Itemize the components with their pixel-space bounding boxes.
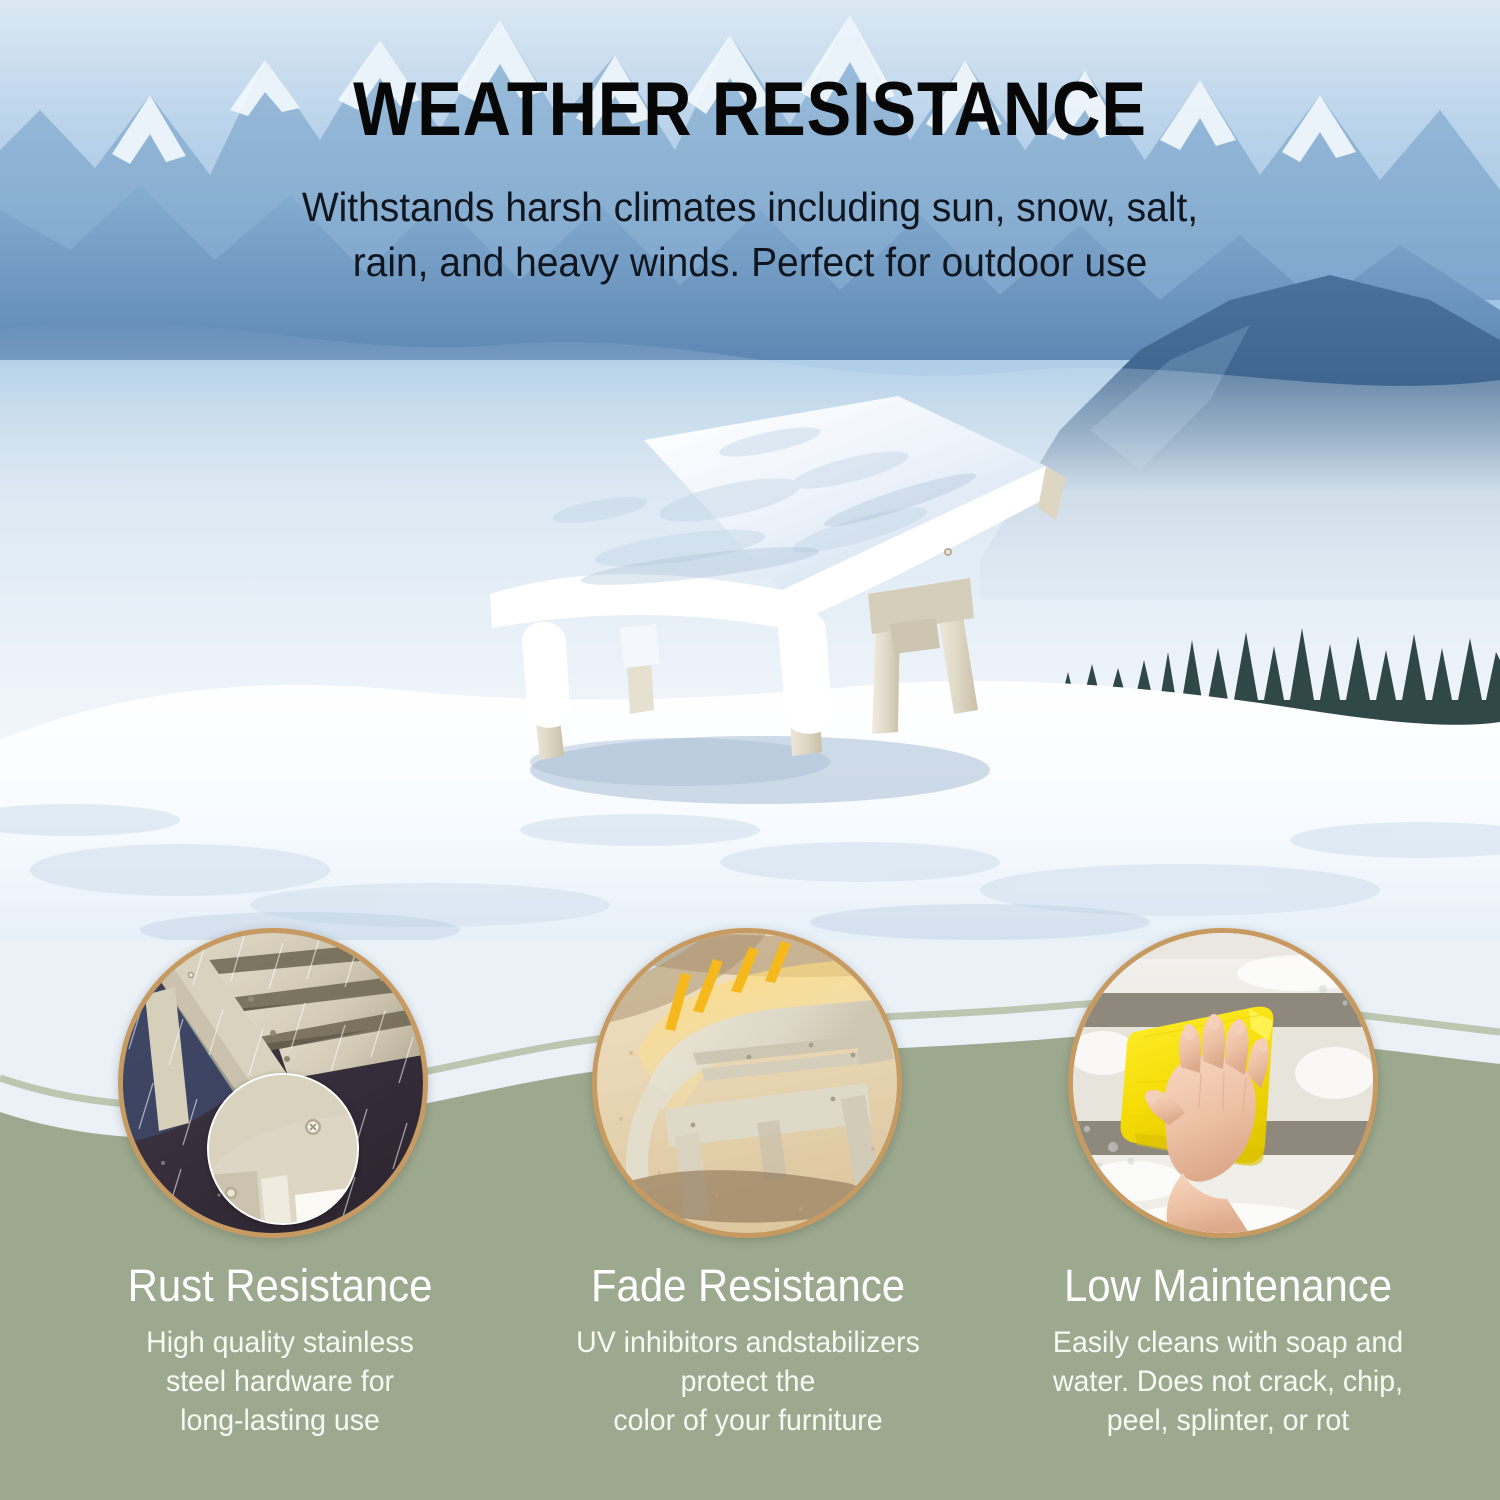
feature-desc-rust: High quality stainless steel hardware fo…: [71, 1323, 489, 1440]
feature-caption-fade: Fade Resistance UV inhibitors andstabili…: [528, 1262, 968, 1440]
feature-desc-fade-line-2: protect the: [539, 1362, 957, 1401]
feature-desc-rust-line-3: long-lasting use: [71, 1401, 489, 1440]
page-subtitle: Withstands harsh climates including sun,…: [247, 180, 1254, 291]
feature-desc-fade-line-3: color of your furniture: [539, 1401, 957, 1440]
beach-sun-rays-photo: [597, 933, 897, 1233]
snow-covered-ottoman-product: [430, 380, 1080, 810]
subtitle-line-1: Withstands harsh climates including sun,…: [247, 180, 1254, 235]
feature-caption-rust: Rust Resistance High quality stainless s…: [60, 1262, 500, 1440]
feature-desc-rust-line-2: steel hardware for: [71, 1362, 489, 1401]
marketing-infographic: WEATHER RESISTANCE Withstands harsh clim…: [0, 0, 1500, 1500]
feature-desc-fade-line-1: UV inhibitors andstabilizers: [539, 1323, 957, 1362]
feature-desc-rust-line-1: High quality stainless: [71, 1323, 489, 1362]
feature-caption-clean: Low Maintenance Easily cleans with soap …: [1008, 1262, 1448, 1440]
feature-desc-clean-line-3: peel, splinter, or rot: [1019, 1401, 1437, 1440]
feature-title-clean: Low Maintenance: [1023, 1262, 1432, 1309]
page-headline: WEATHER RESISTANCE: [90, 72, 1410, 148]
feature-image-rust-resistance: [118, 928, 428, 1238]
hand-wiping-cloth-photo: [1073, 933, 1373, 1233]
feature-desc-clean-line-1: Easily cleans with soap and: [1019, 1323, 1437, 1362]
feature-image-low-maintenance: [1068, 928, 1378, 1238]
feature-image-fade-resistance: [592, 928, 902, 1238]
feature-title-fade: Fade Resistance: [543, 1262, 952, 1309]
feature-title-rust: Rust Resistance: [75, 1262, 484, 1309]
subtitle-line-2: rain, and heavy winds. Perfect for outdo…: [247, 235, 1254, 290]
screw-detail-magnifier: [207, 1073, 359, 1225]
feature-desc-clean-line-2: water. Does not crack, chip,: [1019, 1362, 1437, 1401]
feature-desc-clean: Easily cleans with soap and water. Does …: [1019, 1323, 1437, 1440]
feature-desc-fade: UV inhibitors andstabilizers protect the…: [539, 1323, 957, 1440]
